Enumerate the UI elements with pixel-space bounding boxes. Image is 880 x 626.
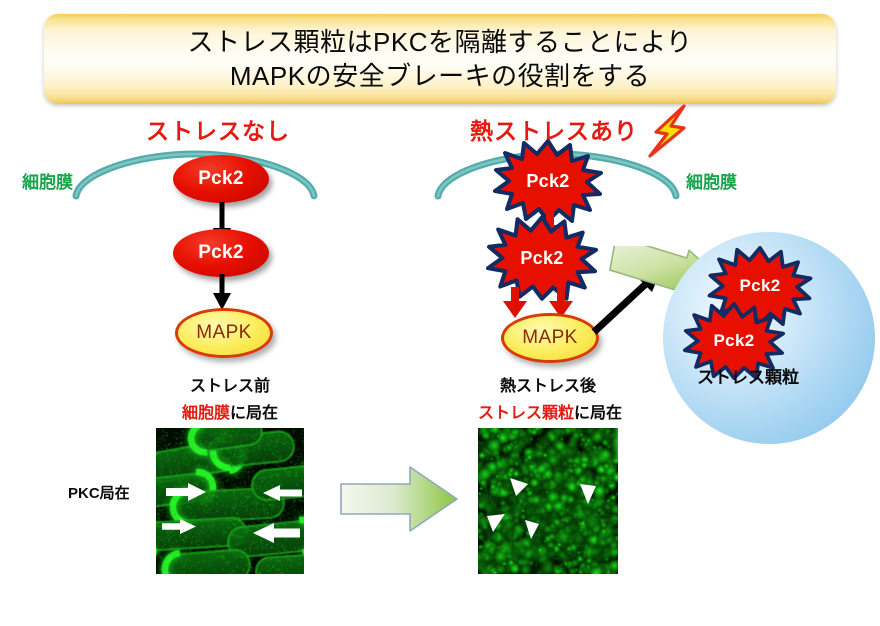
pck2-node-cytoplasm-left: Pck2 bbox=[173, 229, 269, 277]
caption-highlight: 細胞膜 bbox=[182, 405, 230, 422]
title-banner: ストレス顆粒はPKCを隔離することにより MAPKの安全ブレーキの役割をする bbox=[44, 14, 836, 104]
micrograph-arrow-3 bbox=[262, 484, 304, 502]
caption-suffix: に局在 bbox=[574, 405, 622, 422]
arrow-down-red-2 bbox=[500, 286, 530, 320]
micrograph-arrow-2 bbox=[160, 518, 198, 535]
pkc-localization-label: PKC局在 bbox=[68, 482, 130, 503]
mapk-label: MAPK bbox=[196, 322, 251, 344]
micrograph-arrow-4 bbox=[252, 522, 302, 544]
membrane-label-left: 細胞膜 bbox=[22, 168, 73, 193]
micrograph-arrowhead-4 bbox=[523, 518, 541, 540]
page-title: ストレス顆粒はPKCを隔離することにより MAPKの安全ブレーキの役割をする bbox=[188, 25, 693, 94]
micrograph-arrowhead-3 bbox=[485, 512, 507, 534]
caption-line-1: 熱ストレス後 bbox=[478, 372, 618, 396]
pck2-label: Pck2 bbox=[198, 168, 244, 190]
title-line-1: ストレス顆粒はPKCを隔離することにより bbox=[188, 25, 693, 59]
micrograph-arrowhead-2 bbox=[578, 482, 598, 506]
mapk-node-left: MAPK bbox=[175, 308, 273, 358]
caption-suffix: に局在 bbox=[230, 405, 278, 422]
micrograph-left-caption: ストレス前 細胞膜に局在 bbox=[156, 372, 304, 423]
stress-granule-label: ストレス顆粒 bbox=[697, 363, 799, 388]
micrograph-arrowhead-1 bbox=[508, 476, 530, 498]
micrograph-right-caption: 熱ストレス後 ストレス顆粒に局在 bbox=[478, 372, 618, 423]
transition-arrow-icon bbox=[338, 462, 460, 536]
membrane-label-right: 細胞膜 bbox=[686, 168, 737, 193]
left-panel-heading: ストレスなし bbox=[146, 112, 290, 146]
mapk-label: MAPK bbox=[522, 327, 577, 349]
pck2-node-membrane-left: Pck2 bbox=[173, 155, 269, 203]
arrow-down-left-2 bbox=[207, 274, 237, 312]
title-line-2: MAPKの安全ブレーキの役割をする bbox=[188, 59, 693, 93]
mapk-node-right: MAPK bbox=[501, 313, 599, 363]
caption-line-1: ストレス前 bbox=[156, 372, 304, 396]
pck2-label: Pck2 bbox=[198, 242, 244, 264]
caption-highlight: ストレス顆粒 bbox=[478, 405, 574, 422]
micrograph-arrow-1 bbox=[164, 482, 208, 502]
